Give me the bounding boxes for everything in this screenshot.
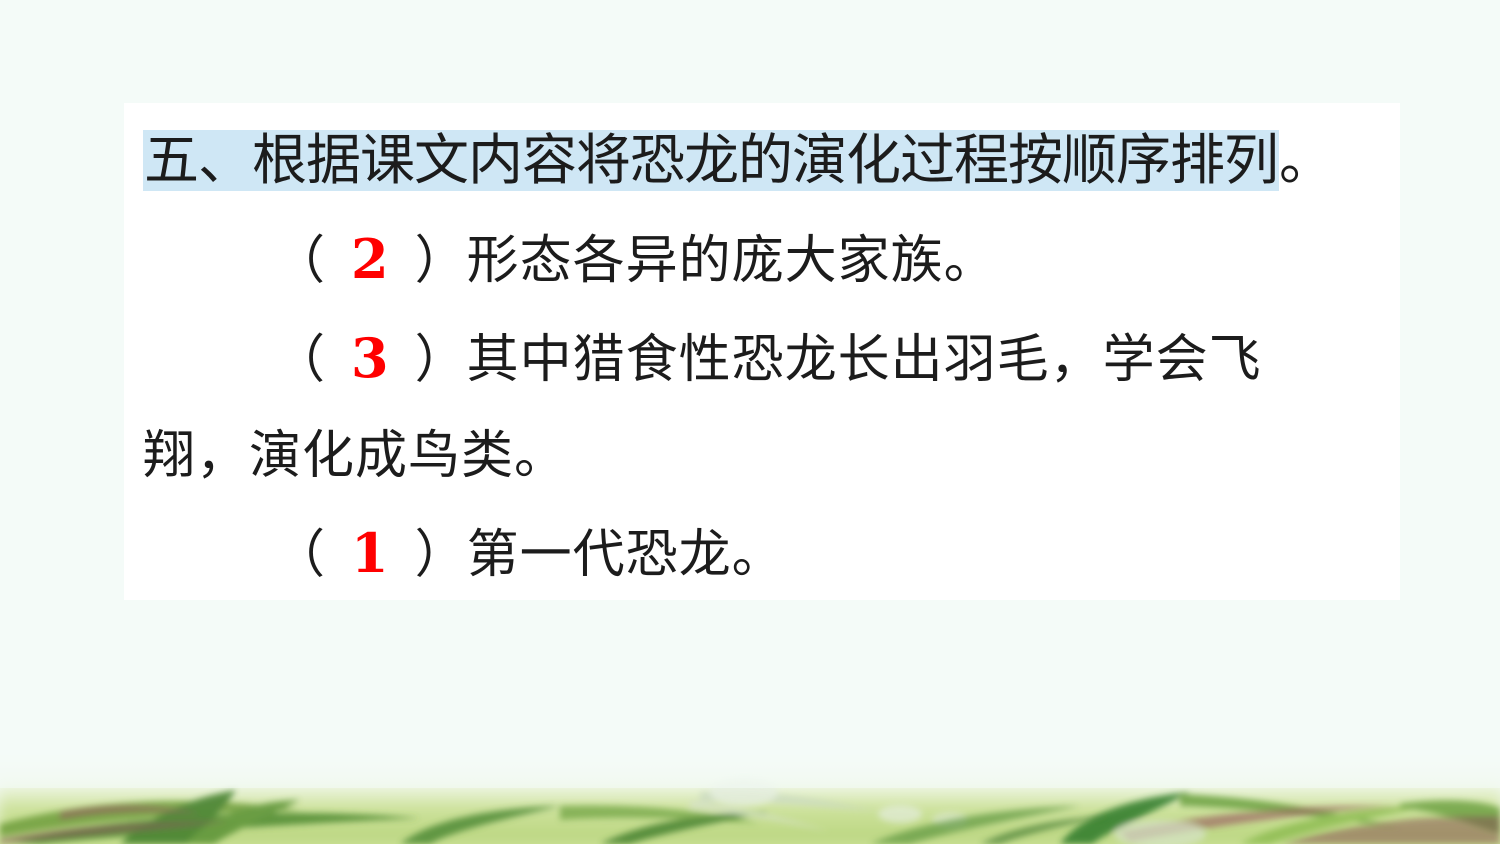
list-item-text: 第一代恐龙。 [467, 527, 785, 584]
list-item: （1）第一代恐龙。 [143, 505, 1393, 604]
exercise-title-period: 。 [1279, 130, 1333, 191]
answer-blank-value[interactable]: 2 [325, 227, 415, 291]
answer-blank-value[interactable]: 3 [325, 326, 415, 390]
list-item-text: 其中猎食性恐龙长出羽毛，学会飞 [467, 332, 1262, 389]
open-paren: （ [273, 233, 325, 290]
page-title: 五、根据课文内容将恐龙的演化过程按顺序排列。 [143, 126, 1333, 196]
close-paren: ） [415, 233, 467, 290]
list-item-continuation: 翔，演化成鸟类。 [143, 409, 1393, 505]
list-item-text: 形态各异的庞大家族。 [467, 233, 997, 290]
list-item-wrapped-text: 翔，演化成鸟类。 [143, 428, 567, 485]
foliage-graphic [0, 754, 1500, 844]
answer-blank-value[interactable]: 1 [325, 521, 415, 585]
list-item: （2）形态各异的庞大家族。 [143, 211, 1393, 310]
open-paren: （ [273, 527, 325, 584]
open-paren: （ [273, 332, 325, 389]
list-item: （3）其中猎食性恐龙长出羽毛，学会飞 [143, 310, 1393, 409]
close-paren: ） [415, 527, 467, 584]
exercise-title-highlight: 五、根据课文内容将恐龙的演化过程按顺序排列 [143, 130, 1279, 191]
answer-list: （2）形态各异的庞大家族。 （3）其中猎食性恐龙长出羽毛，学会飞 翔，演化成鸟类… [143, 211, 1393, 604]
content-panel: 五、根据课文内容将恐龙的演化过程按顺序排列。 （2）形态各异的庞大家族。 （3）… [124, 103, 1400, 600]
slide-root: 五、根据课文内容将恐龙的演化过程按顺序排列。 （2）形态各异的庞大家族。 （3）… [0, 0, 1500, 844]
bottom-foliage-decoration [0, 754, 1500, 844]
close-paren: ） [415, 332, 467, 389]
